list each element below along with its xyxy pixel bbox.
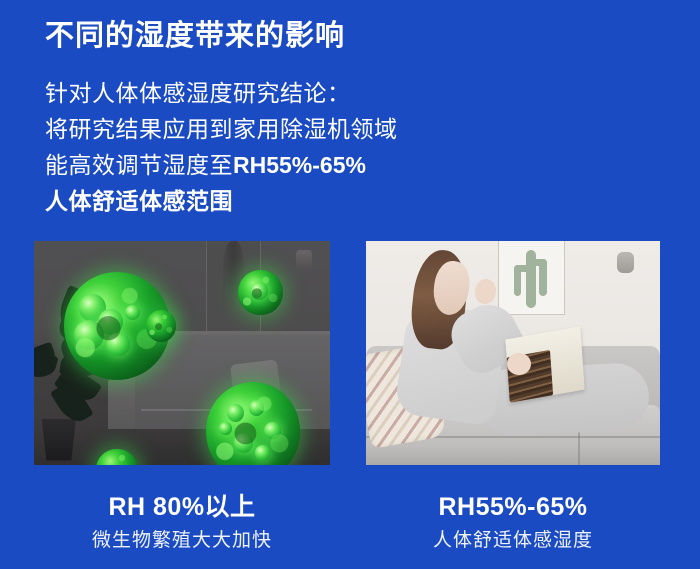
bright-room-scene [366, 241, 660, 465]
caption-title: RH55%-65% [366, 490, 660, 524]
microbe-edge [146, 310, 176, 341]
humidity-comparison-poster: 不同的湿度带来的影响 针对人体体感湿度研究结论： 将研究结果应用到家用除湿机领域… [0, 0, 700, 569]
photo-comfort-humidity [366, 241, 660, 465]
caption-comfort-humidity: RH55%-65% 人体舒适体感湿度 [366, 490, 660, 556]
photo-high-humidity [34, 241, 330, 465]
humidity-range-highlight: RH55%-65% [233, 152, 366, 178]
photo-row [0, 241, 700, 465]
body-line-3-prefix: 能高效调节湿度至 [45, 152, 233, 178]
body-line-3: 能高效调节湿度至RH55%-65% [45, 147, 515, 183]
microbe-small [238, 270, 282, 315]
body-copy: 针对人体体感湿度研究结论： 将研究结果应用到家用除湿机领域 能高效调节湿度至RH… [45, 75, 515, 219]
dark-room-scene [34, 241, 330, 465]
caption-subtitle: 微生物繁殖大大加快 [34, 526, 330, 556]
caption-subtitle: 人体舒适体感湿度 [366, 526, 660, 556]
body-line-2: 将研究结果应用到家用除湿机领域 [45, 111, 515, 147]
body-line-4: 人体舒适体感范围 [45, 183, 515, 219]
caption-high-humidity: RH 80%以上 微生物繁殖大大加快 [34, 490, 330, 556]
body-line-1: 针对人体体感湿度研究结论： [45, 75, 515, 111]
daylight-tint-overlay [366, 241, 660, 465]
page-title: 不同的湿度带来的影响 [45, 16, 345, 56]
caption-title: RH 80%以上 [34, 490, 330, 524]
